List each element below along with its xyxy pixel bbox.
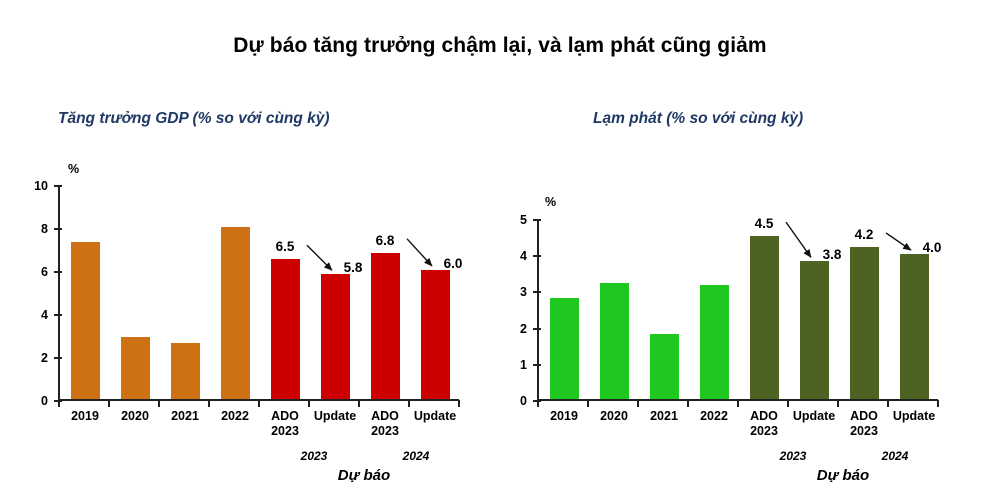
x-axis-tick-gdp — [158, 400, 160, 407]
bar-gdp-2 — [171, 343, 200, 399]
y-axis-tick-label-inflation: 2 — [520, 322, 527, 336]
x-category-label-inflation-6: ADO2023 — [850, 409, 878, 439]
y-axis-tick-inflation: 5 — [533, 219, 541, 221]
bar-inflation-3 — [700, 285, 729, 399]
x-axis-tick-inflation — [937, 400, 939, 407]
x-axis-tick-gdp — [258, 400, 260, 407]
x-category-label-inflation-7: Update — [893, 409, 935, 424]
x-category-label-inflation-4: ADO2023 — [750, 409, 778, 439]
forecast-axis-label-gdp: Dự báo — [338, 467, 390, 484]
x-category-label-inflation-2: 2021 — [650, 409, 678, 424]
data-label-gdp-5: 5.8 — [344, 260, 363, 275]
bar-gdp-3 — [221, 227, 250, 399]
x-category-label-inflation-0: 2019 — [550, 409, 578, 424]
bar-gdp-4 — [271, 259, 300, 399]
x-axis-tick-gdp — [358, 400, 360, 407]
data-label-inflation-7: 4.0 — [923, 240, 942, 255]
y-axis-unit-gdp: % — [68, 162, 79, 176]
bar-inflation-1 — [600, 283, 629, 399]
bar-gdp-1 — [121, 337, 150, 399]
x-axis-tick-inflation — [687, 400, 689, 407]
chart-panel-inflation: Lạm phát (% so với cùng kỳ) % 4.53.84.24… — [505, 100, 985, 495]
y-axis-tick-inflation: 4 — [533, 255, 541, 257]
x-axis-tick-inflation — [787, 400, 789, 407]
plot-area-inflation: 4.53.84.24.0 2019202020212022ADO2023Upda… — [537, 220, 937, 401]
x-category-label-gdp-4: ADO2023 — [271, 409, 299, 439]
data-label-gdp-7: 6.0 — [444, 256, 463, 271]
x-axis-tick-inflation — [637, 400, 639, 407]
bar-inflation-7 — [900, 254, 929, 399]
x-category-label-inflation-1: 2020 — [600, 409, 628, 424]
page-title: Dự báo tăng trưởng chậm lại, và lạm phát… — [0, 34, 1000, 58]
x-axis-tick-gdp — [108, 400, 110, 407]
y-axis-tick-label-gdp: 10 — [34, 179, 48, 193]
x-axis-tick-gdp — [208, 400, 210, 407]
x-group-label-gdp-1: 2024 — [403, 449, 430, 463]
x-group-label-gdp-0: 2023 — [301, 449, 328, 463]
y-axis-tick-gdp: 2 — [54, 357, 62, 359]
chart-title-inflation: Lạm phát (% so với cùng kỳ) — [593, 110, 803, 128]
bar-gdp-0 — [71, 242, 100, 399]
bar-inflation-6 — [850, 247, 879, 399]
y-axis-tick-gdp: 4 — [54, 314, 62, 316]
x-axis-tick-gdp — [308, 400, 310, 407]
y-axis-tick-inflation: 1 — [533, 364, 541, 366]
x-axis-tick-inflation — [887, 400, 889, 407]
plot-area-gdp: 6.55.86.86.0 2019202020212022ADO2023Upda… — [58, 186, 458, 401]
x-axis-tick-inflation — [537, 400, 539, 407]
y-axis-tick-label-gdp: 4 — [41, 308, 48, 322]
data-label-inflation-6: 4.2 — [855, 227, 874, 242]
x-category-label-gdp-0: 2019 — [71, 409, 99, 424]
data-label-gdp-4: 6.5 — [276, 239, 295, 254]
y-axis-tick-label-inflation: 5 — [520, 213, 527, 227]
x-axis-tick-inflation — [837, 400, 839, 407]
y-axis-tick-label-inflation: 1 — [520, 358, 527, 372]
forecast-axis-label-inflation: Dự báo — [817, 467, 869, 484]
bar-inflation-4 — [750, 236, 779, 399]
y-axis-tick-label-gdp: 2 — [41, 351, 48, 365]
x-category-label-gdp-7: Update — [414, 409, 456, 424]
y-axis-tick-inflation: 2 — [533, 328, 541, 330]
bar-series-inflation: 4.53.84.24.0 — [539, 220, 937, 399]
y-axis-tick-label-inflation: 0 — [520, 394, 527, 408]
chart-panel-gdp: Tăng trưởng GDP (% so với cùng kỳ) % 6.5… — [20, 100, 500, 495]
x-category-label-gdp-2: 2021 — [171, 409, 199, 424]
x-group-label-inflation-0: 2023 — [780, 449, 807, 463]
bar-gdp-5 — [321, 274, 350, 399]
x-category-label-inflation-3: 2022 — [700, 409, 728, 424]
y-axis-tick-label-inflation: 3 — [520, 285, 527, 299]
x-category-label-inflation-5: Update — [793, 409, 835, 424]
y-axis-tick-label-gdp: 8 — [41, 222, 48, 236]
bar-inflation-2 — [650, 334, 679, 399]
x-axis-tick-gdp — [58, 400, 60, 407]
x-axis-tick-inflation — [587, 400, 589, 407]
y-axis-unit-inflation: % — [545, 195, 556, 209]
bar-gdp-6 — [371, 253, 400, 399]
x-category-label-gdp-5: Update — [314, 409, 356, 424]
x-axis-labels-inflation: 2019202020212022ADO2023UpdateADO2023Upda… — [539, 409, 939, 449]
chart-title-gdp: Tăng trưởng GDP (% so với cùng kỳ) — [58, 110, 330, 128]
x-group-label-inflation-1: 2024 — [882, 449, 909, 463]
y-axis-tick-gdp: 8 — [54, 228, 62, 230]
x-axis-labels-gdp: 2019202020212022ADO2023UpdateADO2023Upda… — [60, 409, 460, 449]
x-axis-tick-gdp — [408, 400, 410, 407]
y-axis-tick-gdp: 10 — [54, 185, 62, 187]
bar-inflation-0 — [550, 298, 579, 399]
y-axis-tick-label-inflation: 4 — [520, 249, 527, 263]
y-axis-tick-inflation: 3 — [533, 291, 541, 293]
data-label-inflation-4: 4.5 — [755, 216, 774, 231]
y-axis-tick-label-gdp: 6 — [41, 265, 48, 279]
x-axis-tick-gdp — [458, 400, 460, 407]
y-axis-tick-label-gdp: 0 — [41, 394, 48, 408]
data-label-gdp-6: 6.8 — [376, 233, 395, 248]
y-axis-tick-gdp: 6 — [54, 271, 62, 273]
x-axis-tick-inflation — [737, 400, 739, 407]
bar-inflation-5 — [800, 261, 829, 399]
bar-series-gdp: 6.55.86.86.0 — [60, 186, 458, 399]
x-category-label-gdp-3: 2022 — [221, 409, 249, 424]
x-category-label-gdp-1: 2020 — [121, 409, 149, 424]
bar-gdp-7 — [421, 270, 450, 399]
x-category-label-gdp-6: ADO2023 — [371, 409, 399, 439]
data-label-inflation-5: 3.8 — [823, 247, 842, 262]
